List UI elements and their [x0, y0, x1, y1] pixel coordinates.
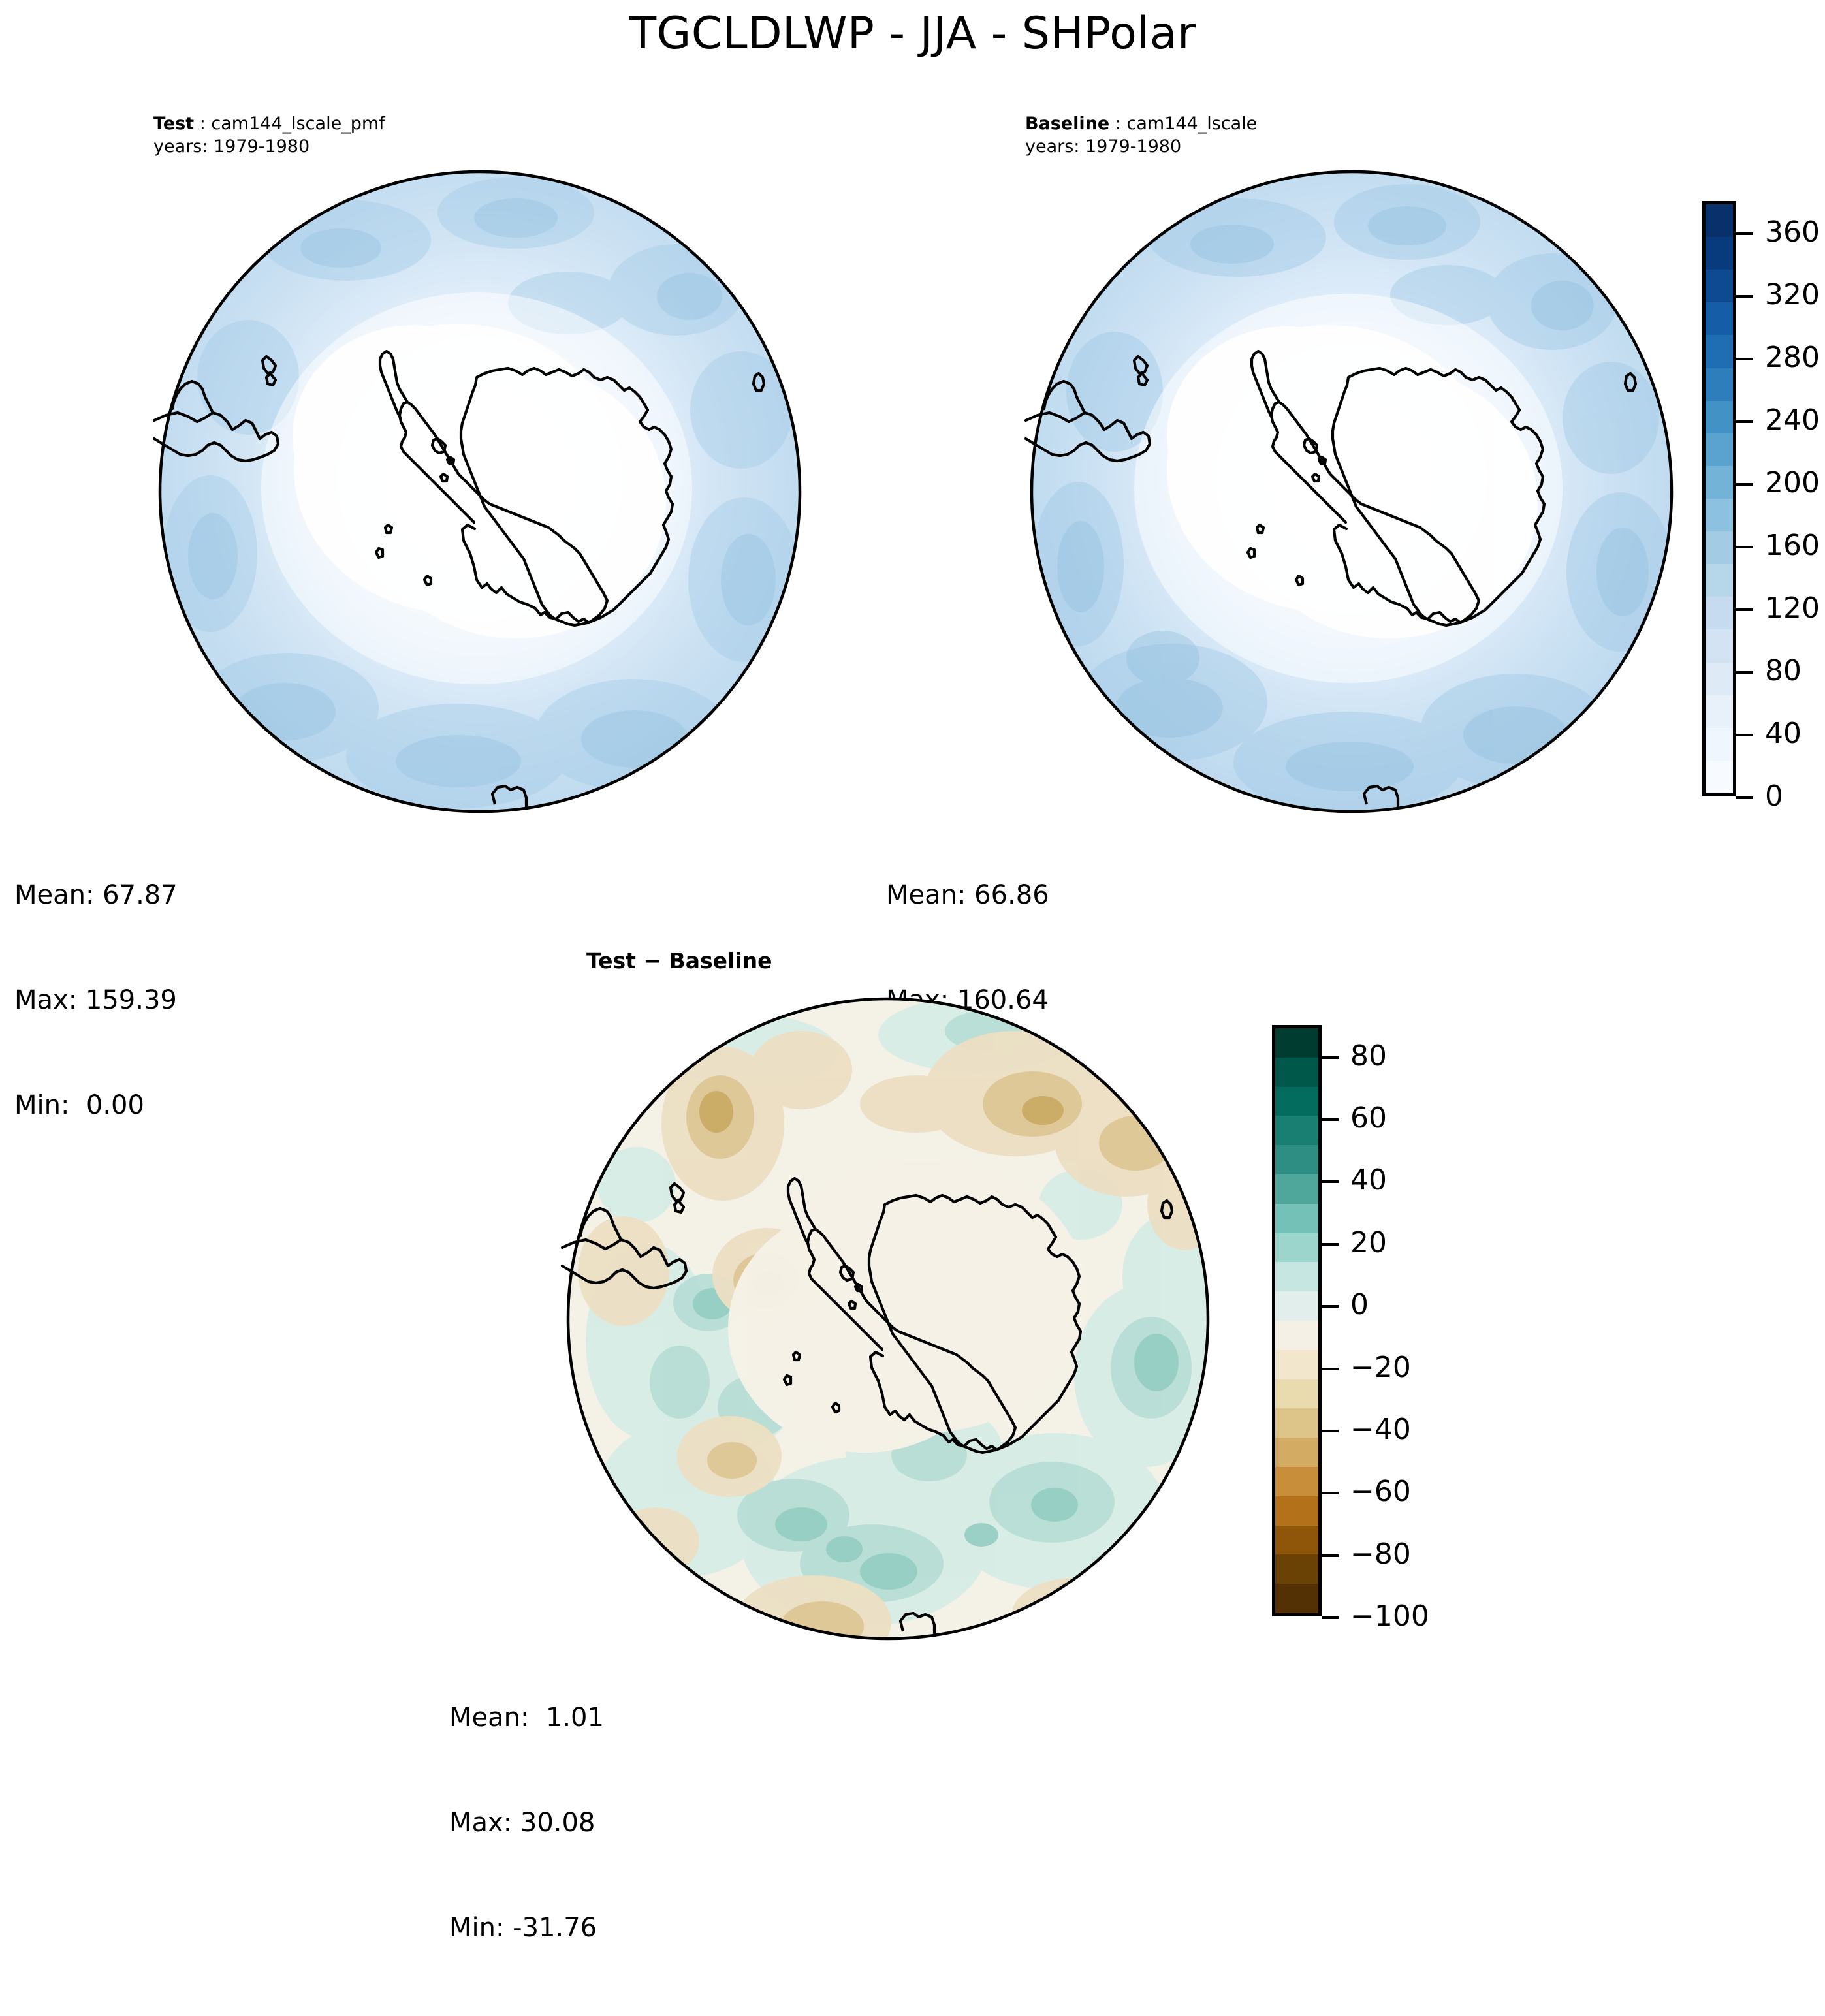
colorbar-segment: [1275, 1467, 1318, 1496]
colorbar-tick-label: 200: [1765, 469, 1820, 497]
map-baseline[interactable]: [1022, 162, 1681, 821]
panel-test-separator: :: [194, 114, 211, 134]
colorbar-tick-mark: [1736, 671, 1753, 674]
colorbar-segment: [1275, 1408, 1318, 1438]
colorbar-segment: [1706, 728, 1733, 761]
colorbar-tick-mark: [1322, 1616, 1339, 1619]
colorbar-tick-label: 0: [1765, 782, 1783, 811]
colorbar-segment: [1275, 1174, 1318, 1204]
colorbar-segment: [1706, 629, 1733, 662]
colorbar-tick-mark: [1322, 1368, 1339, 1370]
colorbar-tick-label: 160: [1765, 531, 1820, 560]
colorbar-segment: [1275, 1584, 1318, 1613]
colorbar-tick-label: 40: [1765, 719, 1801, 748]
colorbar-tick-label: 360: [1765, 218, 1820, 247]
colorbar-segment: [1275, 1321, 1318, 1350]
stats-test: Mean: 67.87 Max: 159.39 Min: 0.00: [14, 808, 178, 1193]
colorbar-tick-label: 40: [1350, 1166, 1387, 1195]
panel-baseline-years: years: 1979-1980: [1025, 135, 1257, 158]
colorbar-segment: [1275, 1526, 1318, 1555]
colorbar-tick-mark: [1322, 1492, 1339, 1494]
stats-difference-max: Max: 30.08: [449, 1806, 604, 1841]
colorbar-segment: [1275, 1145, 1318, 1174]
colorbar-tick-mark: [1322, 1305, 1339, 1308]
colorbar-segment: [1706, 761, 1733, 793]
colorbar-tick-mark: [1736, 608, 1753, 611]
panel-baseline-case-name: cam144_lscale: [1127, 114, 1258, 134]
colorbar-segment: [1275, 1116, 1318, 1145]
colorbar-segment: [1706, 270, 1733, 302]
panel-difference-title: Test − Baseline: [586, 948, 772, 973]
colorbar-segment: [1275, 1496, 1318, 1526]
colorbar-segment: [1706, 695, 1733, 728]
colorbar-segment: [1275, 1204, 1318, 1233]
colorbar-tick-label: −40: [1350, 1415, 1411, 1444]
stats-test-mean: Mean: 67.87: [14, 878, 178, 913]
colorbar-segment: [1706, 466, 1733, 499]
colorbar-tick-mark: [1322, 1056, 1339, 1059]
colorbar-segment: [1706, 499, 1733, 531]
stats-baseline-mean: Mean: 66.86: [886, 878, 1049, 913]
colorbar-tick-mark: [1322, 1243, 1339, 1246]
colorbar-tick-mark: [1736, 796, 1753, 799]
colorbar-segment: [1706, 368, 1733, 401]
panel-test-years: years: 1979-1980: [153, 135, 385, 158]
colorbar-segment: [1275, 1058, 1318, 1087]
colorbar-tick-mark: [1322, 1430, 1339, 1432]
panel-baseline-case-line: Baseline : cam144_lscale: [1025, 112, 1257, 135]
colorbar-tick-label: 280: [1765, 343, 1820, 372]
colorbar-segment: [1706, 531, 1733, 564]
colorbar-segment: [1706, 204, 1733, 237]
colorbar-main-gradient: [1702, 201, 1736, 796]
panel-baseline-separator: :: [1109, 114, 1126, 134]
colorbar-segment: [1275, 1350, 1318, 1379]
colorbar-segment: [1275, 1028, 1318, 1058]
colorbar-tick-mark: [1736, 734, 1753, 736]
stats-difference: Mean: 1.01 Max: 30.08 Min: -31.76: [449, 1631, 604, 2016]
colorbar-segment: [1706, 401, 1733, 433]
colorbar-segment: [1275, 1554, 1318, 1584]
colorbar-tick-label: 20: [1350, 1229, 1387, 1257]
colorbar-segment: [1275, 1379, 1318, 1409]
colorbar-segment: [1706, 663, 1733, 695]
colorbar-tick-mark: [1736, 546, 1753, 548]
colorbar-segment: [1706, 237, 1733, 270]
colorbar-segment: [1706, 335, 1733, 368]
figure-title: TGCLDLWP - JJA - SHPolar: [0, 8, 1825, 59]
colorbar-tick-label: 240: [1765, 406, 1820, 435]
colorbar-main[interactable]: 36032028024020016012080400: [1702, 201, 1825, 808]
colorbar-difference[interactable]: 806040200−20−40−60−80−100: [1272, 1025, 1442, 1626]
colorbar-tick-label: 0: [1350, 1291, 1369, 1319]
stats-difference-mean: Mean: 1.01: [449, 1701, 604, 1736]
colorbar-tick-mark: [1736, 358, 1753, 360]
colorbar-segment: [1275, 1438, 1318, 1467]
colorbar-tick-label: 80: [1350, 1042, 1387, 1071]
stats-test-max: Max: 159.39: [14, 983, 178, 1018]
colorbar-tick-mark: [1322, 1554, 1339, 1557]
colorbar-tick-label: −20: [1350, 1353, 1411, 1382]
colorbar-segment: [1275, 1291, 1318, 1321]
colorbar-tick-mark: [1322, 1180, 1339, 1183]
panel-test-header: Test : cam144_lscale_pmf years: 1979-198…: [153, 112, 385, 158]
stats-difference-min: Min: -31.76: [449, 1911, 604, 1946]
panel-test-case-name: cam144_lscale_pmf: [211, 114, 385, 134]
colorbar-segment: [1275, 1262, 1318, 1291]
stats-test-min: Min: 0.00: [14, 1088, 178, 1124]
map-test[interactable]: [150, 162, 810, 821]
colorbar-tick-mark: [1736, 295, 1753, 298]
colorbar-segment: [1275, 1233, 1318, 1263]
colorbar-tick-label: 80: [1765, 657, 1801, 685]
map-difference-field: [567, 997, 1218, 1648]
colorbar-tick-label: −100: [1350, 1602, 1429, 1631]
colorbar-tick-mark: [1736, 232, 1753, 235]
colorbar-segment: [1706, 597, 1733, 629]
colorbar-tick-label: 320: [1765, 281, 1820, 309]
colorbar-segment: [1706, 302, 1733, 335]
colorbar-segment: [1706, 564, 1733, 597]
colorbar-difference-swatches: [1272, 1025, 1322, 1616]
map-difference[interactable]: [558, 989, 1218, 1648]
colorbar-tick-label: 120: [1765, 594, 1820, 623]
colorbar-tick-label: −80: [1350, 1540, 1411, 1569]
colorbar-tick-mark: [1736, 483, 1753, 486]
panel-test-case-line: Test : cam144_lscale_pmf: [153, 112, 385, 135]
colorbar-tick-label: 60: [1350, 1104, 1387, 1133]
panel-baseline-role-label: Baseline: [1025, 114, 1109, 134]
panel-baseline-header: Baseline : cam144_lscale years: 1979-198…: [1025, 112, 1257, 158]
colorbar-segment: [1706, 433, 1733, 466]
colorbar-tick-mark: [1736, 420, 1753, 423]
panel-test-role-label: Test: [153, 114, 194, 134]
colorbar-tick-label: −60: [1350, 1477, 1411, 1506]
colorbar-tick-mark: [1322, 1118, 1339, 1121]
colorbar-segment: [1275, 1087, 1318, 1116]
